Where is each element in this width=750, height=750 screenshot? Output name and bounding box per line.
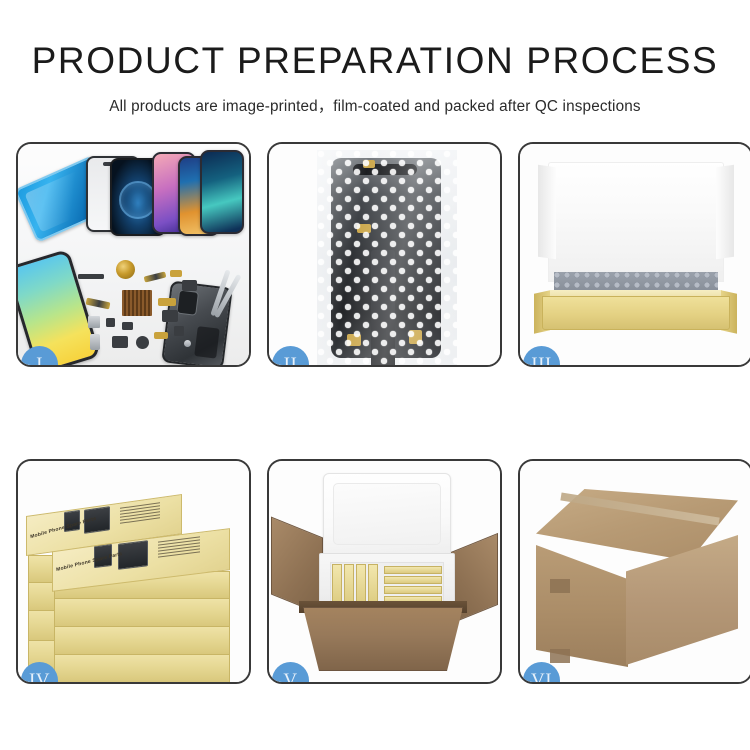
earpiece-mesh (112, 336, 128, 348)
step-3-photo (520, 144, 750, 365)
bubble-wrap-sheen (317, 150, 457, 365)
step-badge-1-label: I (36, 354, 43, 368)
kraft-box-stack: Mobile Phone Spare Parts Mobile Phone Sp… (24, 475, 246, 682)
small-part-2 (122, 322, 133, 330)
step-badge-3-label: III (531, 354, 551, 368)
gold-contact-1 (170, 270, 182, 277)
page-subtitle: All products are image-printed，film-coat… (0, 94, 750, 116)
step-badge-6-label: VI (531, 670, 552, 685)
step-card-1: I (16, 142, 251, 367)
styrofoam-box-cavity (330, 562, 444, 606)
kraft-box-front-panel (542, 296, 730, 330)
step-badge-5-label: V (283, 670, 297, 685)
sim-tray (90, 334, 100, 350)
packed-box-1 (332, 564, 342, 606)
kraft-box-slab-f4 (54, 625, 230, 655)
packed-box-3 (356, 564, 366, 606)
small-part-1 (106, 318, 115, 327)
box-window-front-b (118, 540, 148, 570)
step-card-3: III (518, 142, 750, 367)
step-badge-4-label: IV (29, 670, 50, 685)
camera-module (182, 280, 197, 291)
product-preparation-infographic: PRODUCT PREPARATION PROCESS All products… (0, 0, 750, 750)
packed-box-7 (384, 586, 442, 594)
step-badge-2-label: II (284, 354, 298, 368)
spare-parts-cluster (78, 260, 210, 365)
screw-set (184, 340, 191, 347)
carton-seam-upper (550, 579, 570, 593)
step-card-5: V (267, 459, 502, 684)
step-card-2: II (267, 142, 502, 367)
carton-right-face (626, 535, 738, 665)
bubble-wrap-package (317, 150, 457, 365)
header: PRODUCT PREPARATION PROCESS All products… (0, 0, 750, 116)
foam-sheet-liner (548, 162, 724, 282)
step-5-photo (269, 461, 500, 682)
metal-bracket-1 (88, 316, 100, 328)
step-card-6: VI (518, 459, 750, 684)
ic-chip-grid (122, 290, 152, 316)
small-part-3 (174, 326, 184, 336)
kraft-box-slab-f5 (54, 653, 230, 682)
process-steps-grid: I II (16, 142, 734, 734)
step-4-photo: Mobile Phone Spare Parts Mobile Phone Sp… (18, 461, 249, 682)
speaker-coil-part (116, 260, 135, 279)
step-2-photo (269, 144, 500, 365)
page-title: PRODUCT PREPARATION PROCESS (0, 42, 750, 81)
packed-box-2 (344, 564, 354, 606)
phone-display-teal (200, 150, 244, 234)
packed-box-4 (368, 564, 378, 606)
step-6-photo (520, 461, 750, 682)
styrofoam-lid (323, 473, 451, 559)
flex-cable-1 (144, 271, 167, 282)
gold-contact-2 (158, 298, 176, 306)
kraft-box-slab-f3 (54, 597, 230, 627)
home-button-part (136, 336, 149, 349)
step-1-photo (18, 144, 249, 365)
gold-contact-3 (154, 332, 168, 339)
vibration-motor (162, 310, 178, 322)
packed-box-5 (384, 566, 442, 574)
ribbon-connector-1 (78, 274, 104, 279)
flex-cable-2 (86, 298, 111, 310)
packed-box-6 (384, 576, 442, 584)
carton-body (303, 607, 463, 671)
step-card-4: Mobile Phone Spare Parts Mobile Phone Sp… (16, 459, 251, 684)
carton-seam-lower (550, 649, 570, 663)
